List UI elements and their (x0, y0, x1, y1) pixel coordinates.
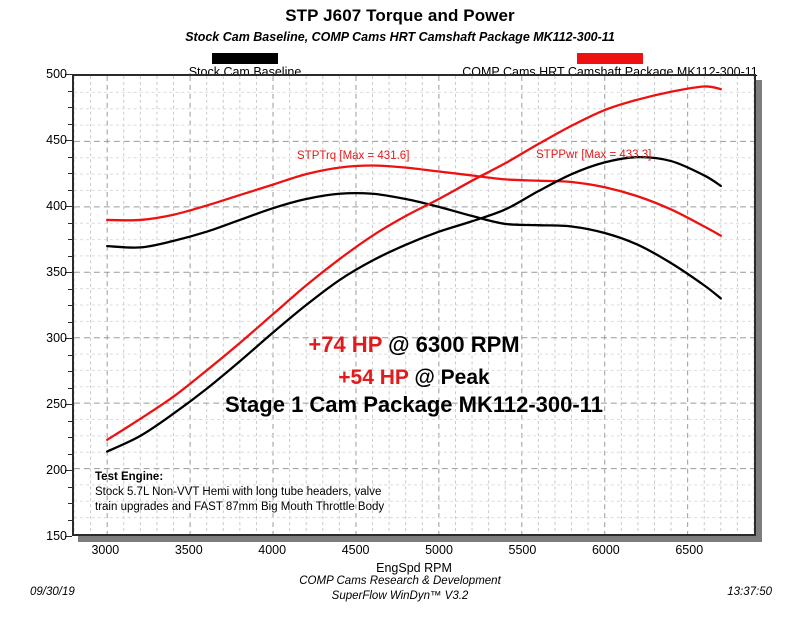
x-axis-tick-label: 4500 (326, 543, 386, 557)
x-axis-title: EngSpd RPM (72, 561, 756, 575)
footer-org: COMP Cams Research & Development (0, 574, 800, 589)
y-axis-minor-tickmark (68, 487, 72, 488)
chart-subtitle: Stock Cam Baseline, COMP Cams HRT Camsha… (0, 30, 800, 44)
callout-gain-black-2: @ Peak (414, 366, 489, 389)
y-axis-tick-label: 150 (27, 529, 67, 543)
x-axis-tick-label: 6500 (659, 543, 719, 557)
x-axis-tick-label: 4000 (242, 543, 302, 557)
y-axis-tick-label: 350 (27, 265, 67, 279)
test-engine-note: Test Engine: Stock 5.7L Non-VVT Hemi wit… (95, 470, 384, 515)
y-axis-minor-tickmark (68, 157, 72, 158)
page-title: STP J607 Torque and Power (0, 6, 800, 26)
y-axis-minor-tickmark (68, 520, 72, 521)
callout-gain-at-rpm: +74 HP @ 6300 RPM (72, 332, 756, 358)
y-axis-minor-tickmark (68, 421, 72, 422)
plot-area (72, 74, 756, 536)
annotation-torque-max: STPTrq [Max = 431.6] (297, 150, 409, 162)
x-axis-labels: 30003500400045005000550060006500 (72, 543, 756, 561)
y-axis-tick-label: 200 (27, 463, 67, 477)
y-axis-minor-tickmark (68, 454, 72, 455)
y-axis-minor-tickmark (68, 289, 72, 290)
y-axis-minor-tickmark (68, 256, 72, 257)
footer-time: 13:37:50 (727, 586, 772, 598)
callout-gain-red-1: +74 HP (308, 332, 382, 357)
y-axis-minor-tickmark (68, 322, 72, 323)
callout-gain-black-1: @ 6300 RPM (388, 332, 520, 357)
legend-swatch-black (212, 53, 278, 64)
y-axis-tick-label: 250 (27, 397, 67, 411)
x-axis-tick-label: 3000 (75, 543, 135, 557)
callout-gain-red-2: +54 HP (338, 366, 408, 389)
callout-package-name: Stage 1 Cam Package MK112-300-11 (72, 392, 756, 418)
test-engine-title: Test Engine: (95, 470, 384, 485)
legend-swatch-red (577, 53, 643, 64)
annotation-power-max: STPPwr [Max = 433.3] (536, 149, 651, 161)
y-axis-minor-tickmark (68, 124, 72, 125)
y-axis-tick-label: 450 (27, 133, 67, 147)
y-axis-labels: 150200250300350400450500 (22, 74, 67, 536)
x-axis-tick-label: 5500 (492, 543, 552, 557)
y-axis-minor-tickmark (68, 91, 72, 92)
footer-software: SuperFlow WinDyn™ V3.2 (0, 589, 800, 604)
x-axis-tick-label: 3500 (159, 543, 219, 557)
test-engine-line-1: Stock 5.7L Non-VVT Hemi with long tube h… (95, 485, 384, 500)
callout-gain-at-peak: +54 HP @ Peak (72, 366, 756, 390)
y-axis-minor-tickmark (68, 173, 72, 174)
test-engine-line-2: train upgrades and FAST 87mm Big Mouth T… (95, 500, 384, 515)
y-axis-minor-tickmark (68, 305, 72, 306)
y-axis-minor-tickmark (68, 503, 72, 504)
y-axis-tick-label: 500 (27, 67, 67, 81)
x-axis-tick-label: 5000 (409, 543, 469, 557)
footer-center: COMP Cams Research & Development SuperFl… (0, 574, 800, 604)
y-axis-tick-label: 400 (27, 199, 67, 213)
x-axis-tick-label: 6000 (576, 543, 636, 557)
y-axis-minor-tickmark (68, 190, 72, 191)
y-axis-minor-tickmark (68, 437, 72, 438)
y-axis-tick-label: 300 (27, 331, 67, 345)
y-axis-minor-tickmark (68, 107, 72, 108)
y-axis-minor-tickmark (68, 239, 72, 240)
data-curves (74, 76, 754, 534)
y-axis-minor-tickmark (68, 223, 72, 224)
